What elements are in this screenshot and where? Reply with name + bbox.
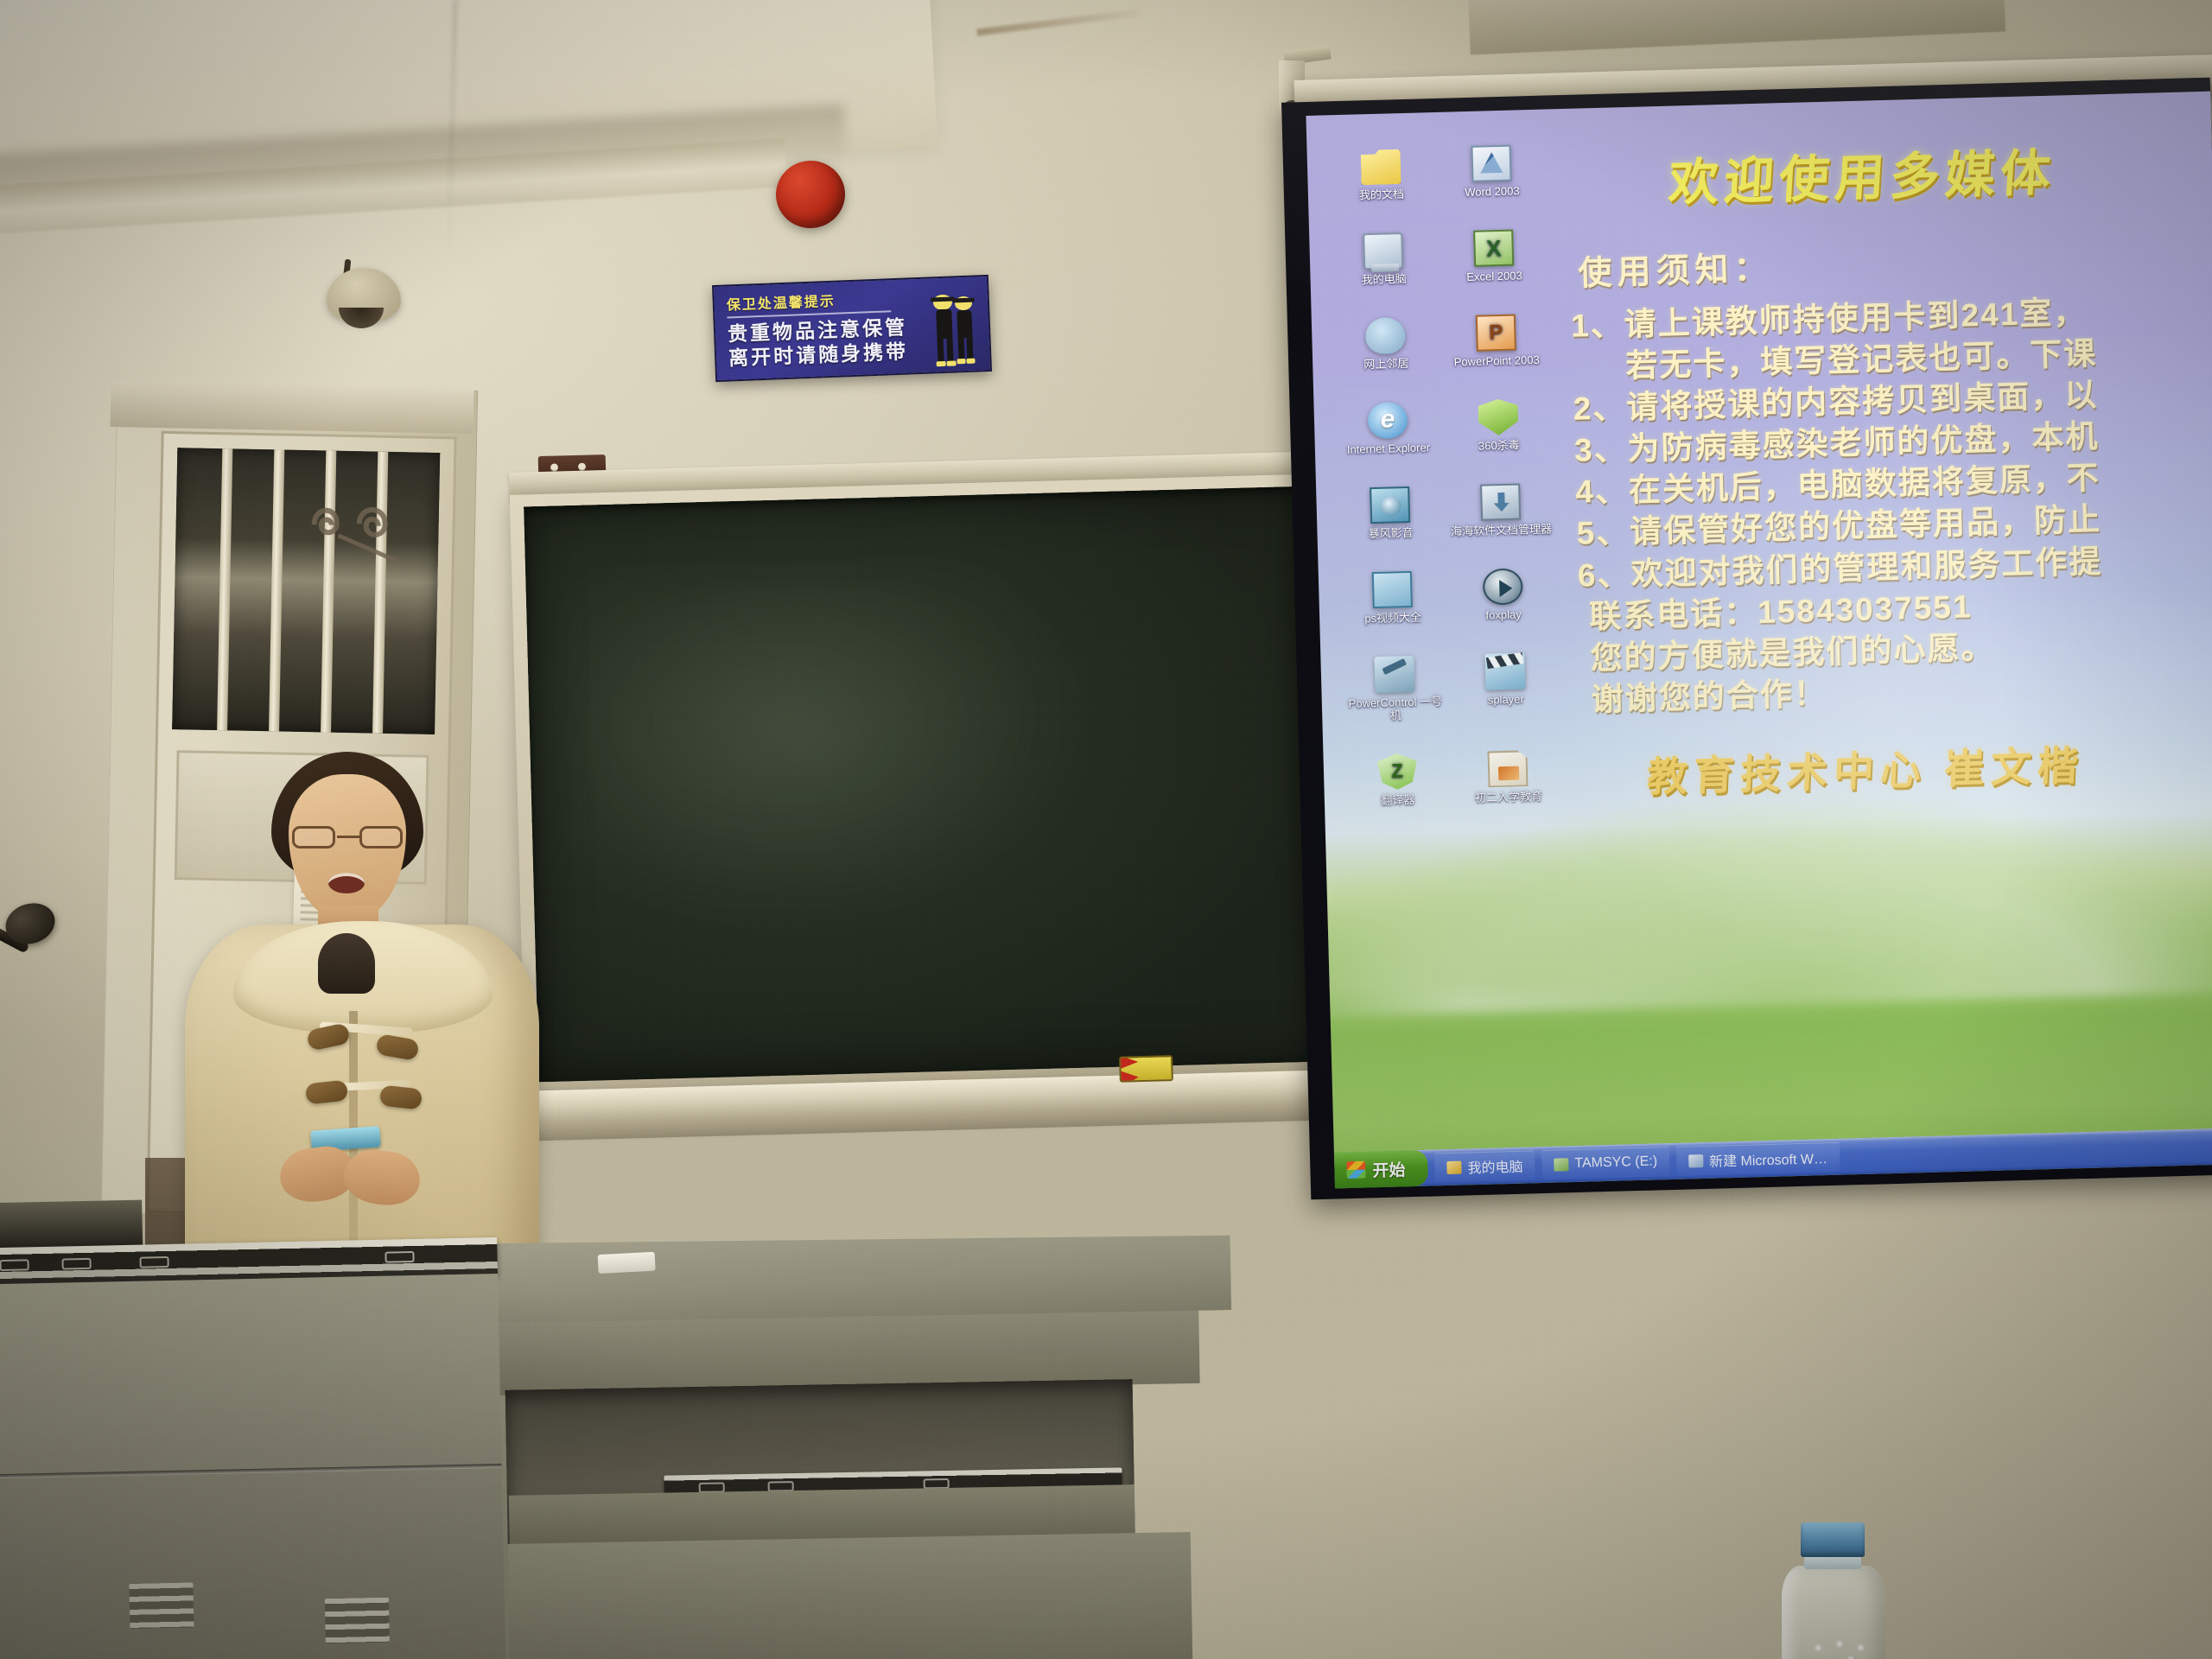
item-number: 4、 <box>1575 473 1630 510</box>
icon-label: Internet Explorer <box>1347 441 1430 456</box>
bottle-cap <box>1801 1522 1865 1557</box>
word-icon <box>1471 145 1511 182</box>
excel-icon <box>1473 230 1514 267</box>
cabinet-top-slot <box>0 1200 143 1250</box>
taskbar-item[interactable]: 我的电脑 <box>1434 1150 1535 1182</box>
icon-label: 360杀毒 <box>1478 438 1520 452</box>
desktop-icon-network[interactable]: 网上邻居 <box>1334 316 1438 372</box>
icon-label: 翻译器 <box>1381 792 1414 806</box>
desktop-icon-document-manager[interactable]: 海海软件文档管理器 <box>1449 482 1553 538</box>
projection-screen: 我的文档 Word 2003 我的电脑 Excel 2003 网上邻居 <box>1281 78 2212 1200</box>
glasses <box>290 826 404 849</box>
my-computer-icon <box>1363 232 1403 270</box>
desktop-icon-orientation-doc[interactable]: 初二入学教育 <box>1456 749 1560 805</box>
water-bottle[interactable] <box>1770 1522 1897 1659</box>
door-mullion <box>269 449 284 731</box>
item-number: 6、 <box>1577 556 1631 594</box>
projected-slide-text: 欢迎使用多媒体 使用须知： 1、请上课教师持使用卡到241室， 若无卡，填写登记… <box>1566 127 2212 1078</box>
document-manager-icon <box>1480 483 1521 520</box>
icon-label: Excel 2003 <box>1466 269 1522 283</box>
podium-top-surface <box>453 1230 1231 1324</box>
icon-label: splayer <box>1488 692 1524 706</box>
icon-label: ps视频大全 <box>1364 610 1421 625</box>
clapperboard-icon <box>1484 652 1525 690</box>
desktop-icon-360-antivirus[interactable]: 360杀毒 <box>1446 397 1550 454</box>
item-number: 3、 <box>1573 431 1628 468</box>
desktop-icon-powerpoint[interactable]: PowerPoint 2003 <box>1445 313 1548 369</box>
desktop-icon-power-control[interactable]: PowerControl 一号机 <box>1343 655 1446 724</box>
taskbar-item[interactable]: TAMSYC (E:) <box>1541 1147 1670 1179</box>
slide-notice-list: 1、请上课教师持使用卡到241室， 若无卡，填写登记表也可。下课 2、请将授课的… <box>1571 288 2212 597</box>
teaching-podium[interactable] <box>453 1230 1238 1659</box>
door-mullion <box>217 448 232 730</box>
windows-flag-icon <box>1346 1161 1366 1179</box>
icon-label: 我的文档 <box>1359 188 1404 201</box>
taskbar-item[interactable]: 新建 Microsoft W… <box>1676 1142 1840 1176</box>
desktop-icon-video-collection[interactable]: ps视频大全 <box>1341 570 1445 626</box>
document-icon <box>1487 750 1528 787</box>
storm-player-icon <box>1370 486 1410 524</box>
icon-label: foxplay <box>1485 607 1522 621</box>
folder-icon <box>1446 1160 1461 1173</box>
360-antivirus-icon <box>1478 398 1518 435</box>
icon-label: PowerPoint 2003 <box>1453 353 1539 369</box>
taskbar-item-label: 新建 Microsoft W… <box>1709 1147 1828 1171</box>
item-number: 1、 <box>1571 307 1625 344</box>
power-control-icon <box>1374 655 1414 692</box>
icon-label: PowerControl 一号机 <box>1348 695 1442 722</box>
icon-label: Word 2003 <box>1465 184 1520 199</box>
chalkboard-surface <box>524 486 1357 1083</box>
network-neighborhood-icon <box>1365 317 1406 354</box>
desktop-icon-grid: 我的文档 Word 2003 我的电脑 Excel 2003 网上邻居 <box>1330 144 1564 809</box>
classroom-photo: 保卫处温馨提示 贵重物品注意保管 离开时请随身携带 <box>0 0 2212 1659</box>
security-guard-icon <box>923 287 981 368</box>
security-notice-sign: 保卫处温馨提示 贵重物品注意保管 离开时请随身携带 <box>712 275 992 382</box>
equipment-cabinet[interactable] <box>0 1205 524 1659</box>
word-doc-icon <box>1688 1154 1703 1167</box>
wrought-iron-scroll-icon <box>305 485 419 566</box>
slide-subtitle: 使用须知： <box>1578 229 2212 296</box>
desktop-icon-excel[interactable]: Excel 2003 <box>1442 229 1546 285</box>
podium-label-sticker <box>598 1252 656 1274</box>
icon-label: 海海软件文档管理器 <box>1451 522 1552 537</box>
door-header <box>111 380 474 434</box>
internet-explorer-icon <box>1367 402 1408 439</box>
mouth <box>328 873 365 893</box>
item-number: 2、 <box>1573 390 1627 427</box>
taskbar-item-label: TAMSYC (E:) <box>1574 1154 1657 1172</box>
icon-label: 初二入学教育 <box>1475 789 1542 804</box>
slide-organization-line: 教育技术中心 崔文楷 <box>1646 727 2212 803</box>
desktop-icon-storm-player[interactable]: 暴风影音 <box>1338 486 1442 542</box>
desktop-icon-internet-explorer[interactable]: Internet Explorer <box>1336 401 1440 457</box>
collar-opening <box>318 933 375 994</box>
drive-icon <box>1554 1158 1568 1171</box>
desktop-icon-translator[interactable]: 翻译器 <box>1345 752 1449 808</box>
icon-label: 我的电脑 <box>1361 272 1406 286</box>
start-button[interactable]: 开始 <box>1334 1150 1428 1189</box>
icon-label: 暴风影音 <box>1368 526 1413 540</box>
chalkboard-assembly <box>510 473 1370 1177</box>
cabinet-vent-louver <box>129 1582 194 1629</box>
video-collection-icon <box>1372 571 1413 608</box>
desktop-icon-word[interactable]: Word 2003 <box>1440 144 1543 200</box>
desktop-icon-media-play[interactable]: foxplay <box>1452 567 1555 623</box>
chalk-box[interactable] <box>1119 1055 1173 1083</box>
desktop-icon-my-computer[interactable]: 我的电脑 <box>1332 232 1435 288</box>
powerpoint-icon <box>1476 314 1516 351</box>
icon-label: 网上邻居 <box>1363 357 1408 371</box>
door-glass-panel <box>172 448 440 734</box>
podium-body <box>508 1532 1193 1659</box>
start-button-label: 开始 <box>1372 1157 1406 1181</box>
media-play-icon <box>1483 568 1523 605</box>
taskbar-item-label: 我的电脑 <box>1467 1155 1523 1178</box>
projected-desktop: 我的文档 Word 2003 我的电脑 Excel 2003 网上邻居 <box>1306 92 2212 1189</box>
bottle-neck-ring <box>1804 1555 1861 1569</box>
green-shield-icon <box>1376 753 1417 790</box>
chalkboard-frame <box>510 473 1369 1092</box>
desktop-icon-my-documents[interactable]: 我的文档 <box>1330 147 1433 203</box>
folder-icon <box>1361 148 1402 185</box>
bottle-body <box>1782 1566 1885 1659</box>
slide-title: 欢迎使用多媒体 <box>1667 127 2212 215</box>
cabinet-vent-louver <box>325 1598 390 1644</box>
item-number: 5、 <box>1576 515 1630 552</box>
desktop-icon-splayer[interactable]: splayer <box>1453 652 1557 721</box>
